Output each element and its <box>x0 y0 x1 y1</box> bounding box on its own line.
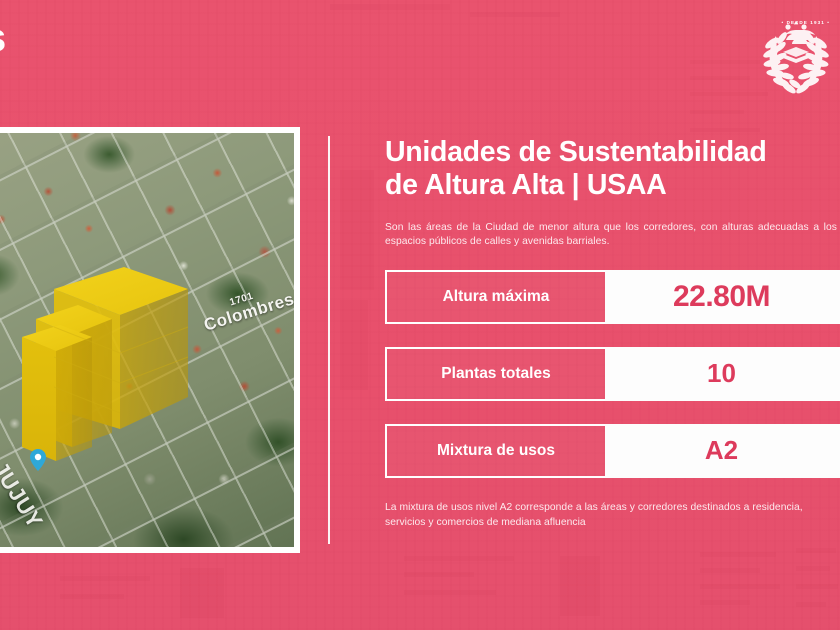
footnote-text: La mixtura de usos nivel A2 corresponde … <box>385 501 840 531</box>
table-row: Plantas totales 10 <box>385 347 840 401</box>
spec-label-mixtura-de-usos: Mixtura de usos <box>385 424 605 478</box>
clipped-heading-text: s <box>0 18 5 58</box>
info-panel: Unidades de Sustentabilidad de Altura Al… <box>385 136 840 531</box>
spec-label-altura-maxima: Altura máxima <box>385 270 605 324</box>
map-image-frame: 1701 Colombres JUJUY <box>0 127 300 553</box>
page-title-line1: Unidades de Sustentabilidad <box>385 136 840 169</box>
spec-value-mixtura-de-usos: A2 <box>605 424 840 478</box>
page-title: Unidades de Sustentabilidad de Altura Al… <box>385 136 840 203</box>
spec-label-plantas-totales: Plantas totales <box>385 347 605 401</box>
table-row: Altura máxima 22.80M <box>385 270 840 324</box>
page-subtitle: Son las áreas de la Ciudad de menor altu… <box>385 221 837 250</box>
emblem-motto-text: • DESDE 1931 • <box>782 20 831 25</box>
location-pin-icon[interactable] <box>30 449 46 471</box>
satellite-map-image[interactable]: 1701 Colombres JUJUY <box>0 133 294 547</box>
laurel-wreath-emblem-icon <box>754 0 838 98</box>
spec-value-plantas-totales: 10 <box>605 347 840 401</box>
spec-value-altura-maxima: 22.80M <box>605 270 840 324</box>
page-title-line2: de Altura Alta | USAA <box>385 169 840 202</box>
building-massing-3d <box>16 237 206 469</box>
table-row: Mixtura de usos A2 <box>385 424 840 478</box>
vertical-divider <box>328 136 330 544</box>
spec-table: Altura máxima 22.80M Plantas totales 10 … <box>385 270 840 478</box>
